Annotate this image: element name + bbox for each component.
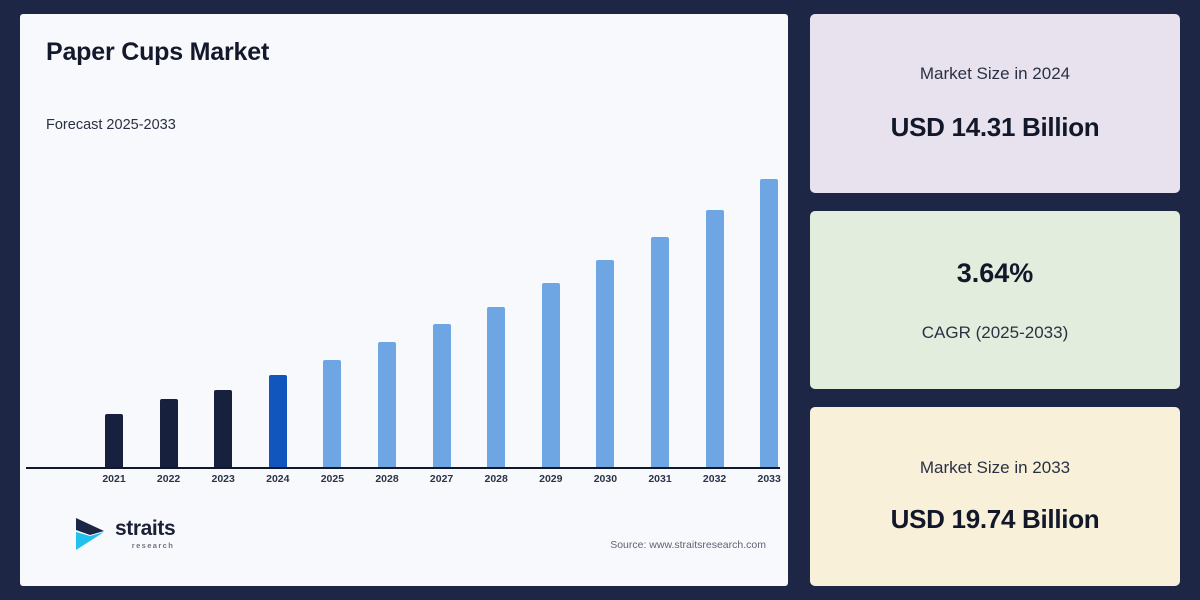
- bar-2021: [105, 414, 123, 467]
- kpi-label: Market Size in 2033: [920, 458, 1070, 478]
- x-tick-label-2031: 2031: [638, 473, 682, 485]
- x-tick-label-2033: 2033: [747, 473, 791, 485]
- x-axis-tick-labels: 2021202220232024202520282027202820292030…: [42, 473, 766, 491]
- logo-text: straits research: [115, 518, 175, 550]
- x-tick-label-2032: 2032: [693, 473, 737, 485]
- kpi-card-cagr: 3.64% CAGR (2025-2033): [810, 211, 1180, 390]
- bar-2031: [651, 237, 669, 467]
- x-tick-label-2024: 2024: [256, 473, 300, 485]
- bar-2027: [433, 324, 451, 467]
- bar-2029: [542, 283, 560, 467]
- kpi-value: USD 19.74 Billion: [891, 504, 1100, 535]
- x-tick-label-2027: 2027: [420, 473, 464, 485]
- kpi-label: CAGR (2025-2033): [922, 323, 1068, 343]
- x-tick-label-2030: 2030: [583, 473, 627, 485]
- bar-chart-plot: [42, 154, 766, 467]
- kpi-value: USD 14.31 Billion: [891, 112, 1100, 143]
- logo-wordmark: straits: [115, 518, 175, 539]
- source-caption: Source: www.straitsresearch.com: [610, 539, 766, 551]
- x-tick-label-2029: 2029: [529, 473, 573, 485]
- bar-2023: [214, 390, 232, 467]
- x-tick-label-2028: 2028: [474, 473, 518, 485]
- bar-series: [42, 154, 766, 467]
- straits-arrow-icon: [74, 516, 108, 552]
- kpi-card-list: Market Size in 2024 USD 14.31 Billion 3.…: [810, 14, 1184, 586]
- bar-2022: [160, 399, 178, 467]
- infographic-root: Paper Cups Market Forecast 2025-2033 202…: [0, 0, 1200, 600]
- page-title: Paper Cups Market: [46, 38, 269, 67]
- bar-2028: [487, 307, 505, 467]
- x-axis-line: [26, 467, 780, 469]
- x-tick-label-2028: 2028: [365, 473, 409, 485]
- kpi-card-market-size-2024: Market Size in 2024 USD 14.31 Billion: [810, 14, 1180, 193]
- bar-2025: [323, 360, 341, 467]
- bar-2033: [760, 179, 778, 467]
- x-tick-label-2025: 2025: [310, 473, 354, 485]
- chart-subtitle: Forecast 2025-2033: [46, 117, 176, 133]
- kpi-value: 3.64%: [957, 258, 1034, 289]
- x-tick-label-2021: 2021: [92, 473, 136, 485]
- bar-2032: [706, 210, 724, 467]
- x-tick-label-2022: 2022: [147, 473, 191, 485]
- bar-2030: [596, 260, 614, 467]
- straits-research-logo: straits research: [74, 516, 175, 552]
- bar-2028: [378, 342, 396, 467]
- kpi-card-market-size-2033: Market Size in 2033 USD 19.74 Billion: [810, 407, 1180, 586]
- kpi-label: Market Size in 2024: [920, 64, 1070, 84]
- logo-subtext: research: [132, 542, 174, 550]
- bar-2024: [269, 375, 287, 467]
- x-tick-label-2023: 2023: [201, 473, 245, 485]
- chart-panel: Paper Cups Market Forecast 2025-2033 202…: [20, 14, 788, 586]
